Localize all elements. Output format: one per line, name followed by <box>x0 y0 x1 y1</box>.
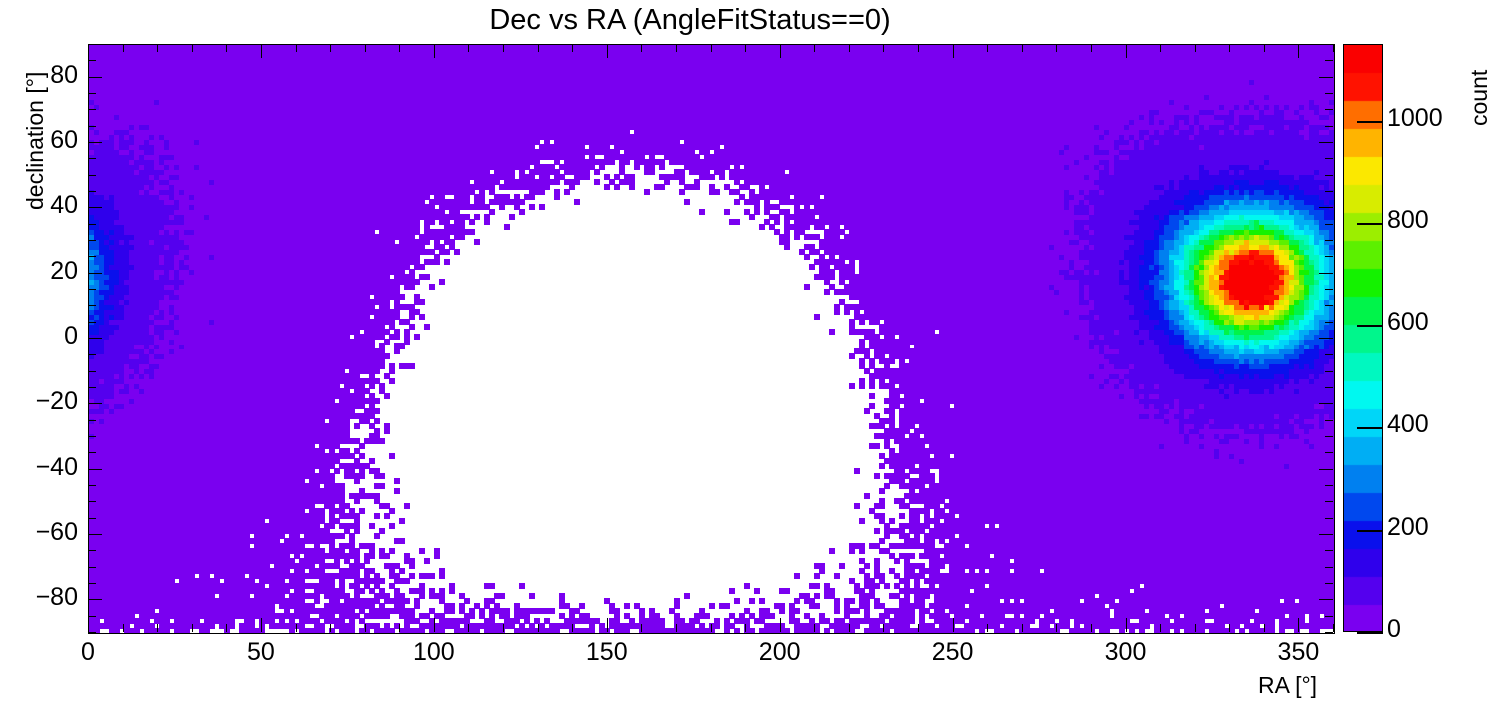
x-minor-tick <box>883 624 884 632</box>
y-major-tick-right <box>1319 273 1333 274</box>
colorbar-tick <box>1357 530 1383 532</box>
y-minor-tick-right <box>1325 436 1333 437</box>
y-major-tick-right <box>1319 403 1333 404</box>
colorbar-tick-label: 600 <box>1387 308 1429 337</box>
y-minor-tick-right <box>1325 60 1333 61</box>
x-minor-tick-top <box>123 44 124 52</box>
x-tick-label: 200 <box>720 638 840 667</box>
y-minor-tick-right <box>1325 420 1333 421</box>
colorbar-canvas <box>1343 44 1383 632</box>
y-minor-tick-right <box>1325 567 1333 568</box>
y-major-tick <box>88 77 102 78</box>
colorbar-title: count <box>1466 70 1493 126</box>
x-minor-tick <box>1195 624 1196 632</box>
colorbar-tick-label: 800 <box>1387 206 1429 235</box>
y-minor-tick-right <box>1325 322 1333 323</box>
y-tick-label: 40 <box>0 191 78 220</box>
x-tick-label: 50 <box>201 638 321 667</box>
x-minor-tick <box>296 624 297 632</box>
y-tick-label: 60 <box>0 126 78 155</box>
x-major-tick <box>953 618 954 632</box>
x-minor-tick <box>123 624 124 632</box>
y-minor-tick-right <box>1325 109 1333 110</box>
x-minor-tick <box>572 624 573 632</box>
y-minor-tick-right <box>1325 452 1333 453</box>
x-minor-tick-top <box>503 44 504 52</box>
x-major-tick-top <box>780 44 781 58</box>
y-minor-tick-right <box>1325 126 1333 127</box>
y-minor-tick-right <box>1325 616 1333 617</box>
y-minor-tick-right <box>1325 158 1333 159</box>
x-minor-tick-top <box>157 44 158 52</box>
plot-root: Dec vs RA (AngleFitStatus==0) declinatio… <box>0 0 1496 722</box>
y-major-tick-right <box>1319 534 1333 535</box>
x-major-tick <box>607 618 608 632</box>
y-minor-tick <box>88 583 96 584</box>
y-major-tick-right <box>1319 77 1333 78</box>
y-minor-tick <box>88 158 96 159</box>
x-minor-tick-top <box>1195 44 1196 52</box>
y-major-tick-right <box>1319 207 1333 208</box>
colorbar-tick <box>1357 632 1383 634</box>
colorbar-tick-label: 0 <box>1387 615 1401 644</box>
y-major-tick <box>88 338 102 339</box>
y-major-tick <box>88 534 102 535</box>
y-minor-tick <box>88 632 96 633</box>
y-minor-tick <box>88 354 96 355</box>
x-minor-tick <box>157 624 158 632</box>
x-minor-tick-top <box>745 44 746 52</box>
x-minor-tick-top <box>192 44 193 52</box>
x-tick-label: 100 <box>374 638 494 667</box>
x-minor-tick-top <box>1056 44 1057 52</box>
x-minor-tick-top <box>883 44 884 52</box>
x-minor-tick <box>814 624 815 632</box>
y-minor-tick <box>88 420 96 421</box>
x-minor-tick <box>192 624 193 632</box>
y-minor-tick-right <box>1325 354 1333 355</box>
y-minor-tick <box>88 616 96 617</box>
y-minor-tick <box>88 550 96 551</box>
x-tick-label: 150 <box>547 638 667 667</box>
y-minor-tick <box>88 256 96 257</box>
x-minor-tick-top <box>1022 44 1023 52</box>
x-minor-tick <box>1333 624 1334 632</box>
y-major-tick-right <box>1319 599 1333 600</box>
colorbar-tick <box>1357 325 1383 327</box>
x-tick-label: 300 <box>1066 638 1186 667</box>
x-major-tick-top <box>607 44 608 58</box>
y-minor-tick-right <box>1325 175 1333 176</box>
x-minor-tick <box>1160 624 1161 632</box>
x-major-tick-top <box>1126 44 1127 58</box>
colorbar-tick-label: 400 <box>1387 410 1429 439</box>
y-minor-tick <box>88 436 96 437</box>
x-minor-tick-top <box>676 44 677 52</box>
y-minor-tick-right <box>1325 256 1333 257</box>
y-minor-tick <box>88 452 96 453</box>
y-major-tick <box>88 403 102 404</box>
colorbar-tick <box>1357 427 1383 429</box>
y-minor-tick <box>88 289 96 290</box>
colorbar <box>1343 44 1383 632</box>
x-minor-tick <box>987 624 988 632</box>
y-minor-tick <box>88 518 96 519</box>
x-minor-tick <box>676 624 677 632</box>
y-minor-tick <box>88 93 96 94</box>
y-minor-tick <box>88 60 96 61</box>
y-minor-tick-right <box>1325 550 1333 551</box>
histogram-canvas <box>89 45 1334 633</box>
y-minor-tick <box>88 371 96 372</box>
x-minor-tick-top <box>572 44 573 52</box>
x-minor-tick <box>503 624 504 632</box>
x-minor-tick <box>1056 624 1057 632</box>
x-minor-tick <box>1264 624 1265 632</box>
y-minor-tick <box>88 501 96 502</box>
x-minor-tick-top <box>987 44 988 52</box>
y-minor-tick-right <box>1325 289 1333 290</box>
x-minor-tick <box>1022 624 1023 632</box>
x-minor-tick-top <box>226 44 227 52</box>
x-minor-tick-top <box>849 44 850 52</box>
y-major-tick-right <box>1319 142 1333 143</box>
y-tick-label: −20 <box>0 387 78 416</box>
y-minor-tick <box>88 44 96 45</box>
x-minor-tick-top <box>1264 44 1265 52</box>
x-major-tick-top <box>261 44 262 58</box>
y-minor-tick <box>88 224 96 225</box>
y-minor-tick <box>88 240 96 241</box>
y-minor-tick <box>88 126 96 127</box>
x-major-tick-top <box>434 44 435 58</box>
y-minor-tick-right <box>1325 44 1333 45</box>
x-minor-tick <box>1229 624 1230 632</box>
y-minor-tick <box>88 109 96 110</box>
y-minor-tick <box>88 485 96 486</box>
x-minor-tick <box>745 624 746 632</box>
y-minor-tick-right <box>1325 518 1333 519</box>
x-minor-tick <box>641 624 642 632</box>
x-major-tick <box>434 618 435 632</box>
x-minor-tick <box>538 624 539 632</box>
y-minor-tick-right <box>1325 583 1333 584</box>
x-minor-tick-top <box>468 44 469 52</box>
x-minor-tick-top <box>711 44 712 52</box>
x-tick-label: 350 <box>1238 638 1358 667</box>
y-minor-tick-right <box>1325 240 1333 241</box>
x-tick-label: 250 <box>893 638 1013 667</box>
colorbar-tick <box>1357 121 1383 123</box>
y-minor-tick-right <box>1325 632 1333 633</box>
x-minor-tick-top <box>538 44 539 52</box>
page-title: Dec vs RA (AngleFitStatus==0) <box>0 4 1380 37</box>
colorbar-tick-label: 200 <box>1387 513 1429 542</box>
x-tick-label: 0 <box>28 638 148 667</box>
x-minor-tick-top <box>918 44 919 52</box>
x-minor-tick-top <box>365 44 366 52</box>
x-minor-tick-top <box>296 44 297 52</box>
y-major-tick <box>88 273 102 274</box>
y-minor-tick-right <box>1325 305 1333 306</box>
y-minor-tick-right <box>1325 371 1333 372</box>
y-tick-label: −80 <box>0 583 78 612</box>
y-minor-tick-right <box>1325 387 1333 388</box>
x-minor-tick-top <box>330 44 331 52</box>
x-minor-tick <box>849 624 850 632</box>
x-minor-tick <box>399 624 400 632</box>
x-major-tick <box>780 618 781 632</box>
plot-frame <box>88 44 1335 634</box>
x-minor-tick <box>1091 624 1092 632</box>
x-minor-tick <box>711 624 712 632</box>
y-tick-label: −40 <box>0 453 78 482</box>
y-minor-tick-right <box>1325 485 1333 486</box>
y-minor-tick <box>88 567 96 568</box>
x-minor-tick-top <box>1160 44 1161 52</box>
x-major-tick <box>1298 618 1299 632</box>
x-minor-tick-top <box>1091 44 1092 52</box>
y-minor-tick <box>88 175 96 176</box>
y-major-tick <box>88 142 102 143</box>
x-minor-tick <box>468 624 469 632</box>
colorbar-tick-label: 1000 <box>1387 104 1443 133</box>
y-tick-label: 20 <box>0 257 78 286</box>
x-minor-tick-top <box>641 44 642 52</box>
x-minor-tick <box>365 624 366 632</box>
y-minor-tick <box>88 322 96 323</box>
x-minor-tick-top <box>399 44 400 52</box>
x-major-tick-top <box>953 44 954 58</box>
colorbar-tick <box>1357 223 1383 225</box>
y-minor-tick <box>88 305 96 306</box>
x-minor-tick-top <box>1229 44 1230 52</box>
x-minor-tick <box>918 624 919 632</box>
y-tick-label: −60 <box>0 518 78 547</box>
x-major-tick-top <box>88 44 89 58</box>
x-minor-tick <box>330 624 331 632</box>
y-major-tick <box>88 207 102 208</box>
y-minor-tick <box>88 387 96 388</box>
y-major-tick <box>88 469 102 470</box>
y-tick-label: 80 <box>0 61 78 90</box>
x-major-tick <box>88 618 89 632</box>
x-major-tick <box>261 618 262 632</box>
x-minor-tick <box>226 624 227 632</box>
y-minor-tick <box>88 191 96 192</box>
x-minor-tick-top <box>814 44 815 52</box>
y-major-tick-right <box>1319 469 1333 470</box>
y-minor-tick-right <box>1325 191 1333 192</box>
y-major-tick-right <box>1319 338 1333 339</box>
y-major-tick <box>88 599 102 600</box>
x-major-tick <box>1126 618 1127 632</box>
x-axis-title: RA [°] <box>1258 672 1317 699</box>
y-minor-tick-right <box>1325 93 1333 94</box>
y-minor-tick-right <box>1325 224 1333 225</box>
x-minor-tick-top <box>1333 44 1334 52</box>
y-minor-tick-right <box>1325 501 1333 502</box>
y-tick-label: 0 <box>0 322 78 351</box>
x-major-tick-top <box>1298 44 1299 58</box>
